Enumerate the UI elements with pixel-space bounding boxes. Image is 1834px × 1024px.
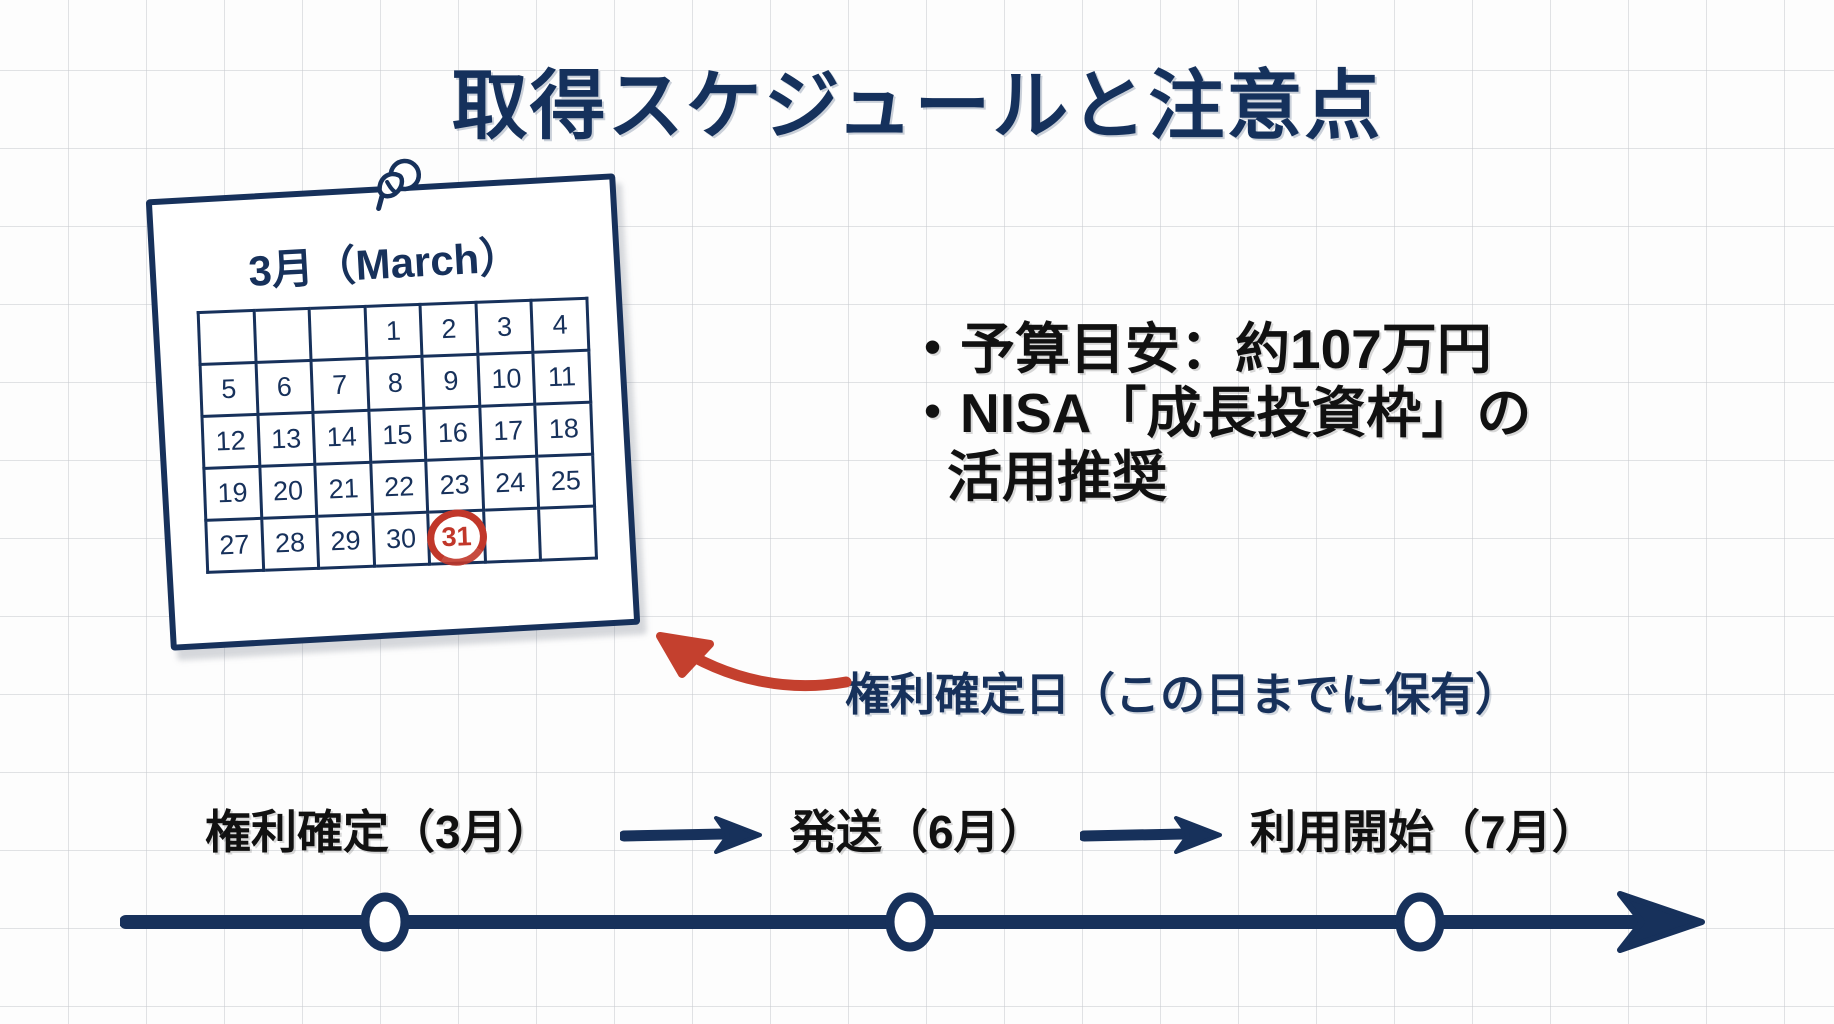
- calendar-day-number: 7: [332, 370, 348, 401]
- calendar-day-cell[interactable]: 8: [367, 356, 424, 410]
- timeline-node-icon: [1400, 897, 1440, 947]
- calendar-day-number: 2: [441, 314, 457, 345]
- calendar-day-cell[interactable]: 15: [369, 408, 426, 462]
- calendar-day-cell[interactable]: 16: [424, 406, 481, 460]
- timeline-step-label-2: 利用開始（7月）: [1250, 796, 1598, 862]
- timeline-node-icon: [365, 897, 405, 947]
- calendar-day-cell[interactable]: 22: [370, 460, 427, 514]
- bullet-item-1: ・NISA「成長投資枠」の: [905, 382, 1785, 446]
- timeline-step-label-1: 発送（6月）: [790, 796, 1046, 862]
- timeline: 権利確定（3月） 発送（6月） 利用開始（7月）: [0, 796, 1834, 996]
- calendar-grid: 1234567891011121314151617181920212223242…: [197, 297, 598, 574]
- calendar-day-number: 29: [330, 525, 361, 556]
- curved-left-arrow-icon: [560, 600, 860, 720]
- calendar-day-number: 14: [326, 421, 357, 452]
- calendar-day-number: 8: [387, 368, 403, 399]
- calendar-day-number: 20: [273, 475, 304, 506]
- calendar-cell-empty: [254, 308, 311, 362]
- calendar-day-cell[interactable]: 1: [365, 304, 422, 358]
- calendar-day-number: 3: [496, 312, 512, 343]
- calendar-day-number: 12: [215, 425, 246, 456]
- calendar-day-number: 15: [382, 419, 413, 450]
- page-title: 取得スケジュールと注意点: [0, 44, 1834, 154]
- calendar-day-cell[interactable]: 31: [428, 510, 485, 564]
- calendar-cell-empty: [539, 506, 596, 560]
- calendar-card: 3月（March） 123456789101112131415161718192…: [146, 173, 640, 651]
- timeline-step-label-0: 権利確定（3月）: [205, 796, 553, 862]
- calendar-day-cell[interactable]: 28: [261, 516, 318, 570]
- calendar-day-cell[interactable]: 3: [476, 300, 533, 354]
- calendar-cell-empty: [483, 508, 540, 562]
- timeline-node-icon: [890, 897, 930, 947]
- calendar-day-cell[interactable]: 6: [256, 360, 313, 414]
- calendar-day-number: 9: [443, 366, 459, 397]
- calendar-day-cell[interactable]: 4: [531, 298, 588, 352]
- calendar-day-cell[interactable]: 5: [200, 362, 257, 416]
- calendar-day-number: 27: [219, 529, 250, 560]
- right-arrow-icon: [1080, 814, 1228, 854]
- calendar-day-cell[interactable]: 2: [420, 302, 477, 356]
- calendar-day-number: 13: [271, 423, 302, 454]
- calendar-day-cell[interactable]: 12: [202, 414, 259, 468]
- calendar-day-number: 4: [552, 309, 568, 340]
- calendar-day-number: 1: [385, 316, 401, 347]
- calendar-day-number: 22: [384, 471, 415, 502]
- bullet-item-0: ・予算目安：約107万円: [905, 318, 1785, 382]
- bullet-list: ・予算目安：約107万円・NISA「成長投資枠」の活用推奨: [905, 318, 1785, 509]
- calendar-day-number: 16: [437, 417, 468, 448]
- calendar-day-number: 25: [550, 465, 581, 496]
- calendar-day-number: 10: [491, 363, 522, 394]
- calendar-day-cell[interactable]: 18: [535, 402, 592, 456]
- calendar-day-cell[interactable]: 14: [313, 410, 370, 464]
- calendar-day-number: 21: [328, 473, 359, 504]
- calendar-day-number: 30: [385, 523, 416, 554]
- calendar-day-number: 23: [439, 469, 470, 500]
- calendar-cell-empty: [309, 306, 366, 360]
- calendar-day-cell[interactable]: 17: [480, 404, 537, 458]
- calendar-day-cell[interactable]: 25: [537, 454, 594, 508]
- pushpin-icon: [366, 154, 433, 221]
- right-arrow-icon: [620, 814, 768, 854]
- calendar-day-cell[interactable]: 19: [204, 466, 261, 520]
- annotation-label: 権利確定日（この日までに保有）: [845, 658, 1520, 723]
- calendar-day-cell[interactable]: 7: [311, 358, 368, 412]
- calendar-cell-empty: [198, 310, 255, 364]
- calendar-day-cell[interactable]: 20: [259, 464, 316, 518]
- calendar-day-number: 18: [548, 413, 579, 444]
- calendar-day-number: 6: [276, 372, 292, 403]
- calendar-grid-body: 1234567891011121314151617181920212223242…: [198, 298, 596, 572]
- calendar-day-number: 5: [221, 374, 237, 405]
- calendar-day-cell[interactable]: 21: [315, 462, 372, 516]
- calendar-day-cell[interactable]: 9: [422, 354, 479, 408]
- calendar-day-number: 11: [547, 361, 576, 392]
- calendar-day-number: 17: [493, 415, 524, 446]
- bullet-item-1-cont: 活用推奨: [905, 446, 1785, 510]
- calendar-day-cell[interactable]: 13: [258, 412, 315, 466]
- calendar-day-cell[interactable]: 24: [482, 456, 539, 510]
- timeline-axis-icon: [120, 888, 1720, 958]
- calendar-day-cell[interactable]: 30: [372, 512, 429, 566]
- calendar-day-cell[interactable]: 10: [478, 352, 535, 406]
- calendar-day-number: 31: [441, 521, 472, 552]
- calendar-day-number: 28: [274, 527, 305, 558]
- calendar-day-number: 24: [495, 467, 526, 498]
- calendar-day-cell[interactable]: 27: [206, 518, 263, 572]
- slide-canvas: 取得スケジュールと注意点 3月（March） 12345678910111213…: [0, 0, 1834, 1024]
- calendar-day-number: 19: [217, 477, 248, 508]
- calendar-day-cell[interactable]: 23: [426, 458, 483, 512]
- calendar-day-cell[interactable]: 29: [317, 514, 374, 568]
- calendar-day-cell[interactable]: 11: [533, 350, 590, 404]
